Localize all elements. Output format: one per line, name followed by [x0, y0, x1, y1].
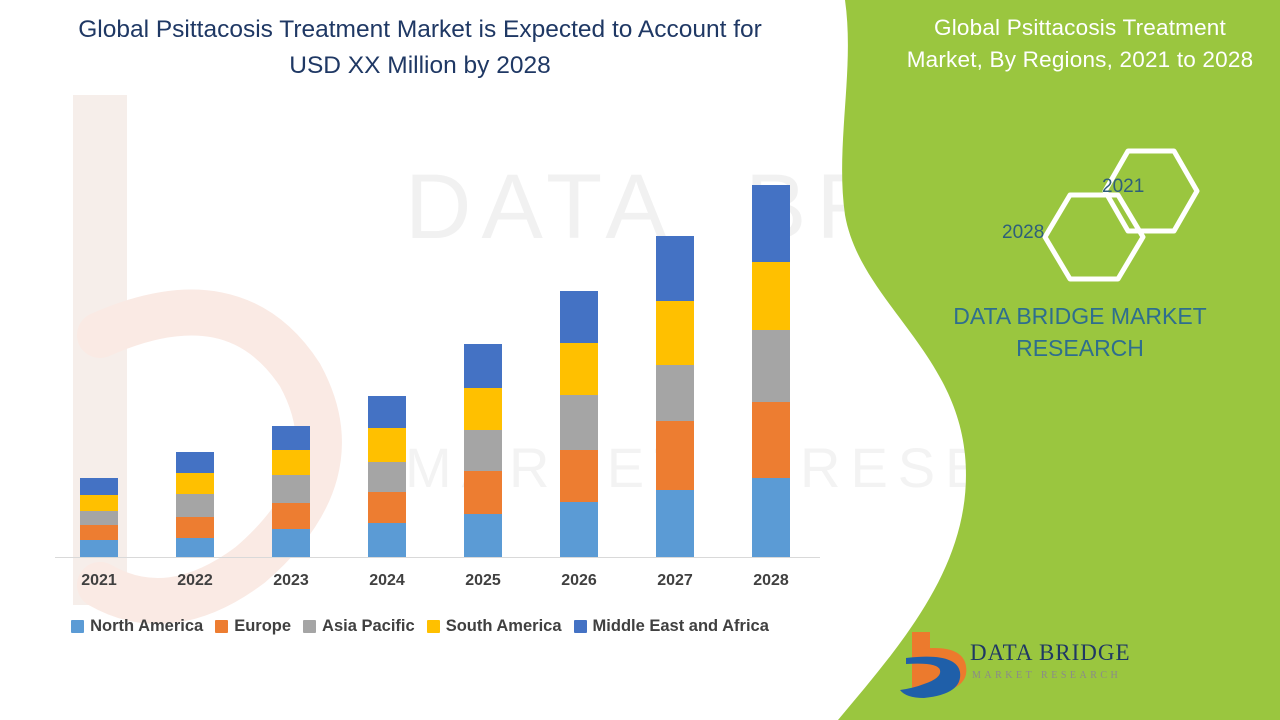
- panel-title-line-1: Global Psittacosis Treatment: [880, 12, 1280, 44]
- legend-label: South America: [446, 617, 562, 636]
- bar-segment-europe[interactable]: [656, 421, 694, 490]
- panel-content: Global Psittacosis Treatment Market, By …: [880, 0, 1280, 720]
- legend-swatch-icon: [303, 620, 316, 633]
- legend-swatch-icon: [71, 620, 84, 633]
- bar-segment-south-america[interactable]: [560, 343, 598, 395]
- bar-2023[interactable]: [272, 426, 310, 557]
- bar-segment-asia-pacific[interactable]: [272, 475, 310, 503]
- bar-2028[interactable]: [752, 185, 790, 557]
- legend-item-europe[interactable]: Europe: [215, 617, 291, 636]
- logo-wordmark: DATA BRIDGE: [970, 640, 1131, 666]
- x-axis-label-2027: 2027: [627, 572, 723, 590]
- bar-2026[interactable]: [560, 291, 598, 557]
- bar-segment-middle-east-and-africa[interactable]: [176, 452, 214, 473]
- bar-segment-asia-pacific[interactable]: [656, 365, 694, 421]
- legend-label: North America: [90, 617, 203, 636]
- bar-segment-south-america[interactable]: [176, 473, 214, 494]
- bar-segment-europe[interactable]: [80, 525, 118, 540]
- bar-2022[interactable]: [176, 452, 214, 557]
- bar-segment-north-america[interactable]: [464, 514, 502, 557]
- bar-segment-middle-east-and-africa[interactable]: [368, 396, 406, 428]
- x-axis-label-2022: 2022: [147, 572, 243, 590]
- x-axis-label-2026: 2026: [531, 572, 627, 590]
- bar-2021[interactable]: [80, 478, 118, 557]
- bar-segment-asia-pacific[interactable]: [560, 395, 598, 450]
- hexagon-label-end-year: 2028: [1002, 222, 1044, 244]
- x-axis-label-2024: 2024: [339, 572, 435, 590]
- x-axis-label-2025: 2025: [435, 572, 531, 590]
- bar-segment-europe[interactable]: [368, 492, 406, 523]
- bar-segment-middle-east-and-africa[interactable]: [80, 478, 118, 495]
- bar-segment-europe[interactable]: [560, 450, 598, 502]
- bar-segment-asia-pacific[interactable]: [368, 462, 406, 492]
- bar-segment-asia-pacific[interactable]: [752, 330, 790, 402]
- bar-segment-europe[interactable]: [176, 517, 214, 538]
- x-axis-label-2023: 2023: [243, 572, 339, 590]
- chart-infographic: DATA BRIDGE MARKET RESEARCH Global Psitt…: [0, 0, 1280, 720]
- legend-swatch-icon: [574, 620, 587, 633]
- chart-container: Global Psittacosis Treatment Market is E…: [0, 0, 840, 720]
- legend-swatch-icon: [427, 620, 440, 633]
- legend-item-asia-pacific[interactable]: Asia Pacific: [303, 617, 415, 636]
- plot-area: [0, 0, 840, 720]
- legend-label: Europe: [234, 617, 291, 636]
- x-axis-labels: 20212022202320242025202620272028: [0, 572, 840, 602]
- bar-segment-asia-pacific[interactable]: [176, 494, 214, 517]
- bar-segment-middle-east-and-africa[interactable]: [560, 291, 598, 343]
- bar-segment-north-america[interactable]: [176, 538, 214, 557]
- bar-segment-south-america[interactable]: [272, 450, 310, 475]
- legend-label: Middle East and Africa: [593, 617, 769, 636]
- bar-segment-north-america[interactable]: [656, 490, 694, 557]
- bar-segment-north-america[interactable]: [752, 478, 790, 557]
- bar-segment-middle-east-and-africa[interactable]: [272, 426, 310, 450]
- legend-item-south-america[interactable]: South America: [427, 617, 562, 636]
- bar-segment-north-america[interactable]: [272, 529, 310, 557]
- brand-name: DATA BRIDGE MARKET RESEARCH: [880, 300, 1280, 364]
- bar-segment-middle-east-and-africa[interactable]: [752, 185, 790, 262]
- legend-item-middle-east-and-africa[interactable]: Middle East and Africa: [574, 617, 769, 636]
- bar-segment-europe[interactable]: [752, 402, 790, 478]
- hexagon-label-start-year: 2021: [1102, 176, 1144, 198]
- legend-label: Asia Pacific: [322, 617, 415, 636]
- bar-segment-asia-pacific[interactable]: [464, 430, 502, 471]
- bar-segment-europe[interactable]: [272, 503, 310, 529]
- bar-2025[interactable]: [464, 344, 502, 557]
- bar-segment-south-america[interactable]: [80, 495, 118, 511]
- bar-segment-south-america[interactable]: [656, 301, 694, 365]
- hexagon-outlines-icon: [880, 145, 1280, 295]
- bar-segment-north-america[interactable]: [368, 523, 406, 557]
- bar-segment-asia-pacific[interactable]: [80, 511, 118, 525]
- hexagon-2028-shape: [1045, 195, 1143, 279]
- chart-legend: North AmericaEuropeAsia PacificSouth Ame…: [0, 617, 840, 636]
- legend-item-north-america[interactable]: North America: [71, 617, 203, 636]
- x-axis-label-2028: 2028: [723, 572, 819, 590]
- brand-line-1: DATA BRIDGE MARKET: [880, 300, 1280, 332]
- bar-segment-north-america[interactable]: [80, 540, 118, 557]
- legend-swatch-icon: [215, 620, 228, 633]
- bar-segment-south-america[interactable]: [464, 388, 502, 430]
- bar-segment-north-america[interactable]: [560, 502, 598, 557]
- bar-segment-south-america[interactable]: [368, 428, 406, 462]
- logo-tagline: MARKET RESEARCH: [972, 670, 1121, 681]
- bar-segment-middle-east-and-africa[interactable]: [656, 236, 694, 301]
- x-axis-label-2021: 2021: [51, 572, 147, 590]
- bar-2027[interactable]: [656, 236, 694, 557]
- x-axis-line: [55, 557, 820, 558]
- bar-2024[interactable]: [368, 396, 406, 557]
- panel-title: Global Psittacosis Treatment Market, By …: [880, 12, 1280, 76]
- bar-segment-south-america[interactable]: [752, 262, 790, 330]
- panel-title-line-2: Market, By Regions, 2021 to 2028: [880, 44, 1280, 76]
- bar-segment-middle-east-and-africa[interactable]: [464, 344, 502, 388]
- hexagon-group: 2021 2028: [880, 145, 1280, 295]
- brand-line-2: RESEARCH: [880, 332, 1280, 364]
- bar-segment-europe[interactable]: [464, 471, 502, 514]
